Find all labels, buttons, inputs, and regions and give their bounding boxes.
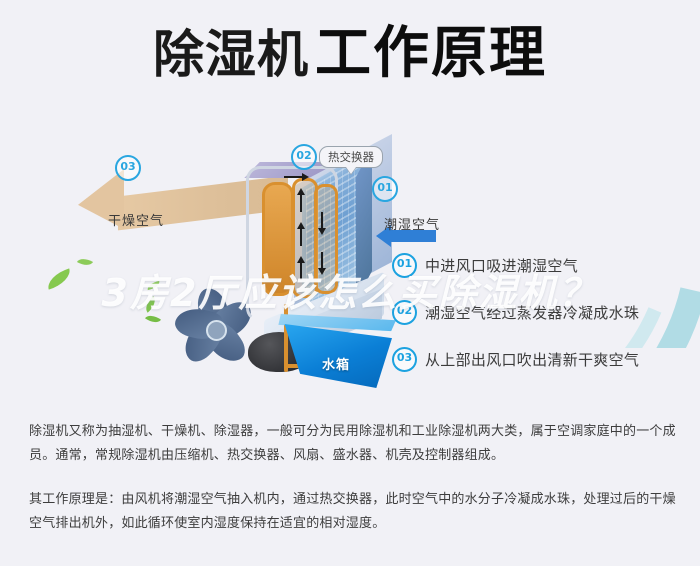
heat-exchanger-callout: 热交换器 bbox=[319, 146, 383, 168]
legend-item: 02 潮湿空气经过蒸发器冷凝成水珠 bbox=[392, 297, 692, 327]
water-tank-label: 水箱 bbox=[322, 354, 350, 373]
dry-air-badge: 03 bbox=[115, 155, 141, 181]
humid-air-label: 潮湿空气 bbox=[384, 214, 440, 233]
copper-coil-assembly bbox=[258, 178, 332, 298]
leaf-icon bbox=[146, 281, 160, 290]
legend-badge: 01 bbox=[392, 253, 417, 278]
legend-badge: 02 bbox=[392, 300, 417, 325]
legend-badge: 03 bbox=[392, 347, 417, 372]
flow-arrow-down-icon bbox=[318, 228, 326, 235]
title-part-2: 工作原理 bbox=[315, 21, 547, 86]
coil-tube bbox=[262, 182, 294, 296]
legend-text: 潮湿空气经过蒸发器冷凝成水珠 bbox=[425, 302, 639, 323]
coil-tube bbox=[314, 184, 338, 294]
flow-tick bbox=[300, 228, 302, 246]
leaf-icon bbox=[77, 255, 93, 269]
leaf-icon bbox=[44, 268, 73, 289]
page-title: 除湿机工作原理 bbox=[0, 26, 700, 82]
flow-arrow-right-icon bbox=[302, 173, 309, 181]
flow-arrow-down-icon bbox=[318, 268, 326, 275]
dry-air-label: 干燥空气 bbox=[108, 210, 164, 229]
title-part-1: 除湿机 bbox=[153, 26, 309, 85]
legend-text: 从上部出风口吹出清新干爽空气 bbox=[425, 349, 639, 370]
leaf-icon bbox=[142, 296, 159, 313]
flow-tick bbox=[300, 262, 302, 280]
humid-air-badge: 01 bbox=[372, 176, 398, 202]
flow-arrow-up-icon bbox=[297, 188, 305, 195]
legend-list: 01 中进风口吸进潮湿空气 02 潮湿空气经过蒸发器冷凝成水珠 03 从上部出风… bbox=[392, 250, 692, 391]
body-paragraph-1: 除湿机又称为抽湿机、干燥机、除湿器，一般可分为民用除湿机和工业除湿机两大类，属于… bbox=[29, 420, 677, 468]
flow-arrow-up-icon bbox=[297, 222, 305, 229]
legend-text: 中进风口吸进潮湿空气 bbox=[425, 255, 578, 276]
body-copy: 除湿机又称为抽湿机、干燥机、除湿器，一般可分为民用除湿机和工业除湿机两大类，属于… bbox=[29, 420, 677, 556]
body-paragraph-2: 其工作原理是：由风机将潮湿空气抽入机内，通过热交换器，此时空气中的水分子冷凝成水… bbox=[29, 488, 677, 536]
heat-exchanger-badge: 02 bbox=[291, 144, 317, 170]
flow-tick bbox=[284, 176, 304, 178]
drain-pipe bbox=[284, 304, 288, 372]
legend-item: 01 中进风口吸进潮湿空气 bbox=[392, 250, 692, 280]
fan-hub bbox=[206, 320, 227, 341]
leaf-icon bbox=[145, 312, 161, 327]
flow-tick bbox=[300, 194, 302, 212]
flow-arrow-up-icon bbox=[297, 256, 305, 263]
legend-item: 03 从上部出风口吹出清新干爽空气 bbox=[392, 344, 692, 374]
